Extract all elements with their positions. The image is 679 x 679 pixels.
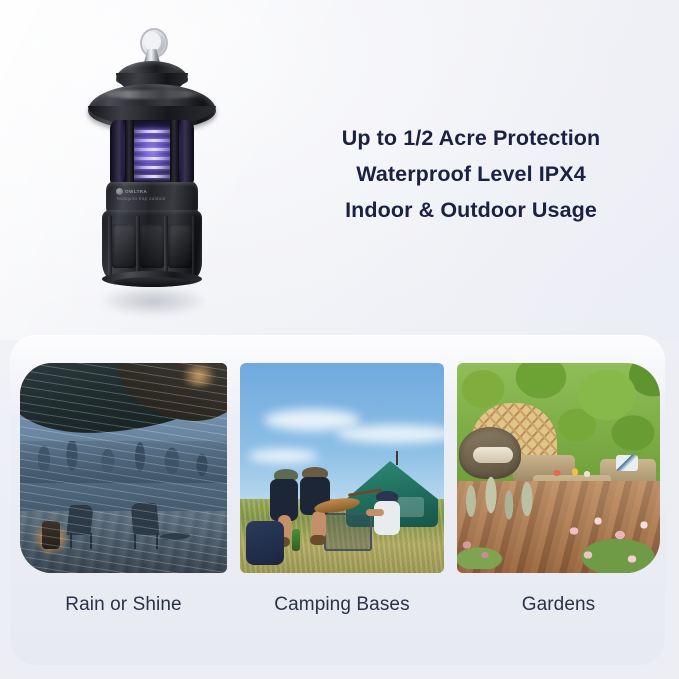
base-vent <box>112 224 136 268</box>
arm <box>366 509 384 516</box>
caption-camping-bases: Camping Bases <box>240 592 444 622</box>
tent-window <box>398 497 424 517</box>
tent-pole <box>396 451 398 465</box>
chair-cushion <box>473 447 513 463</box>
core-right-facet <box>181 120 194 188</box>
uv-slat <box>130 148 174 151</box>
uv-slat <box>130 139 174 142</box>
table-items <box>549 467 595 479</box>
core-pillar <box>125 120 134 188</box>
uv-light-core <box>110 120 194 188</box>
base-rib <box>136 216 140 276</box>
cloud <box>264 409 360 431</box>
brand-logo-icon <box>116 188 123 195</box>
headline-line-1: Up to 1/2 Acre Protection <box>306 120 636 156</box>
lavender-bush <box>457 471 543 533</box>
product-shade-highlight <box>102 90 202 99</box>
folding-chair <box>324 513 372 551</box>
base-bottom <box>114 277 190 287</box>
brand-logo-row: OWLTRA <box>116 188 192 195</box>
card-captions: Rain or Shine Camping Bases Gardens <box>20 592 660 622</box>
striped-pillow <box>616 455 638 471</box>
brand-subtitle: Mosquito trap outdoor <box>117 196 166 201</box>
marketing-image: OWLTRA Mosquito trap outdoor Up to 1/2 A… <box>0 0 679 679</box>
cloud <box>336 425 444 443</box>
use-case-cards <box>20 363 660 575</box>
backpack <box>246 521 284 565</box>
uv-slat <box>130 166 174 169</box>
uv-slat <box>130 157 174 160</box>
base-rib <box>192 216 196 276</box>
core-left-facet <box>110 120 123 188</box>
caption-gardens: Gardens <box>457 592 660 622</box>
product-image: OWLTRA Mosquito trap outdoor <box>72 28 232 313</box>
flower-bed-right <box>558 511 660 573</box>
use-case-card-camping <box>240 363 444 573</box>
uv-slat <box>130 175 174 178</box>
use-case-card-rain <box>20 363 227 573</box>
base-rib <box>164 216 168 276</box>
boot <box>310 535 326 545</box>
use-case-card-garden <box>457 363 660 573</box>
hanging-ring-inner <box>144 32 161 51</box>
torso <box>374 501 400 535</box>
base-vent <box>140 224 164 268</box>
base-rib <box>108 216 112 276</box>
flower-bed-left <box>457 529 509 569</box>
headline-block: Up to 1/2 Acre Protection Waterproof Lev… <box>306 120 636 228</box>
caption-rain-or-shine: Rain or Shine <box>20 592 227 622</box>
headline-line-3: Indoor & Outdoor Usage <box>306 192 636 228</box>
core-pillar <box>170 120 179 188</box>
uv-slat <box>130 130 174 133</box>
rain-streaks <box>20 363 227 573</box>
bottle <box>292 529 300 551</box>
cloud <box>248 449 318 463</box>
headline-line-2: Waterproof Level IPX4 <box>306 156 636 192</box>
brand-name: OWLTRA <box>125 189 147 194</box>
base-vent <box>168 224 192 268</box>
